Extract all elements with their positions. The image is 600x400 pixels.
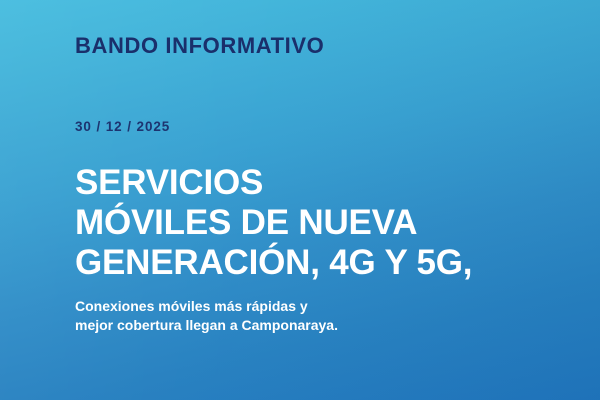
subtitle-line-1: Conexiones móviles más rápidas y (75, 297, 338, 316)
subtitle-line-2: mejor cobertura llegan a Camponaraya. (75, 316, 338, 335)
poster-subtitle: Conexiones móviles más rápidas y mejor c… (75, 297, 338, 335)
poster-headline: SERVICIOS MÓVILES DE NUEVA GENERACIÓN, 4… (75, 163, 472, 283)
poster-kicker: BANDO INFORMATIVO (75, 34, 324, 58)
announcement-poster: BANDO INFORMATIVO 30 / 12 / 2025 SERVICI… (0, 0, 600, 400)
headline-line-3: GENERACIÓN, 4G Y 5G, (75, 243, 472, 283)
headline-line-1: SERVICIOS (75, 163, 472, 203)
poster-date: 30 / 12 / 2025 (75, 120, 170, 135)
headline-line-2: MÓVILES DE NUEVA (75, 203, 472, 243)
